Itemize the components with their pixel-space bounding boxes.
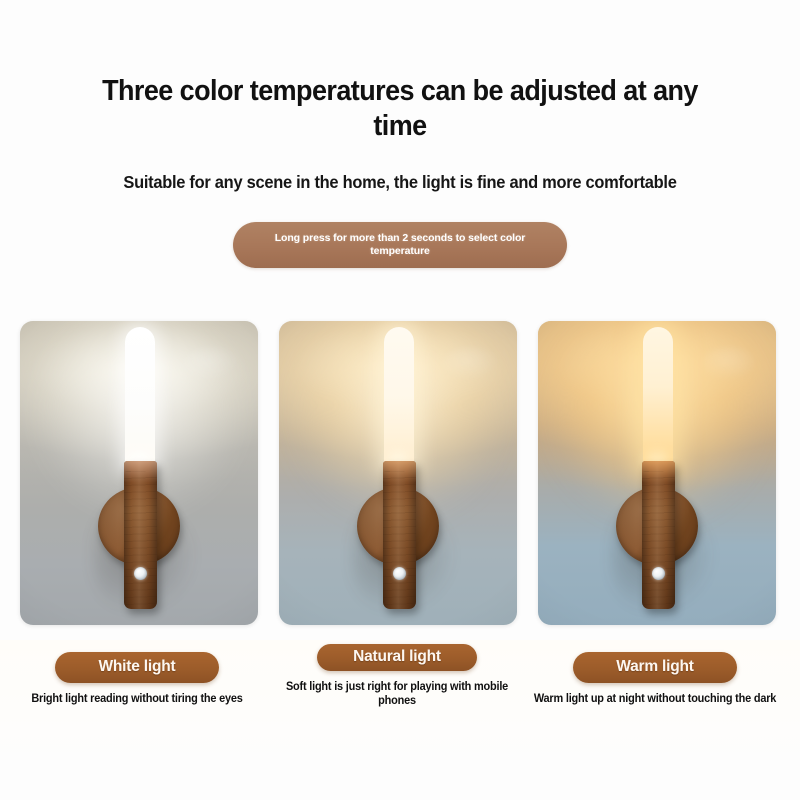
natural-light-caption: Soft light is just right for playing wit… xyxy=(274,680,519,709)
photo-vignette xyxy=(279,321,517,625)
long-press-info-text: Long press for more than 2 seconds to se… xyxy=(257,232,543,258)
label-block-white-light: White light Bright light reading without… xyxy=(8,640,266,706)
warm-light-pill: Warm light xyxy=(573,652,737,683)
natural-light-photo xyxy=(279,321,517,625)
label-block-warm-light: Warm light Warm light up at night withou… xyxy=(526,640,784,706)
photo-vignette xyxy=(538,321,776,625)
white-light-pill: White light xyxy=(55,652,219,683)
warm-light-photo xyxy=(538,321,776,625)
long-press-info-badge: Long press for more than 2 seconds to se… xyxy=(233,222,567,268)
warm-light-pill-label: Warm light xyxy=(616,659,694,676)
white-light-photo xyxy=(20,321,258,625)
product-feature-page: Three color temperatures can be adjusted… xyxy=(0,0,800,800)
label-block-natural-light: Natural light Soft light is just right f… xyxy=(268,640,526,709)
page-subtitle: Suitable for any scene in the home, the … xyxy=(52,172,748,193)
natural-light-pill: Natural light xyxy=(317,644,477,671)
warm-light-caption: Warm light up at night without touching … xyxy=(532,692,777,707)
page-title: Three color temperatures can be adjusted… xyxy=(75,74,726,145)
natural-light-pill-label: Natural light xyxy=(353,649,441,666)
photo-gallery xyxy=(0,321,800,625)
white-light-caption: Bright light reading without tiring the … xyxy=(14,692,259,707)
white-light-pill-label: White light xyxy=(98,659,175,676)
label-strip: White light Bright light reading without… xyxy=(0,640,800,760)
photo-vignette xyxy=(20,321,258,625)
